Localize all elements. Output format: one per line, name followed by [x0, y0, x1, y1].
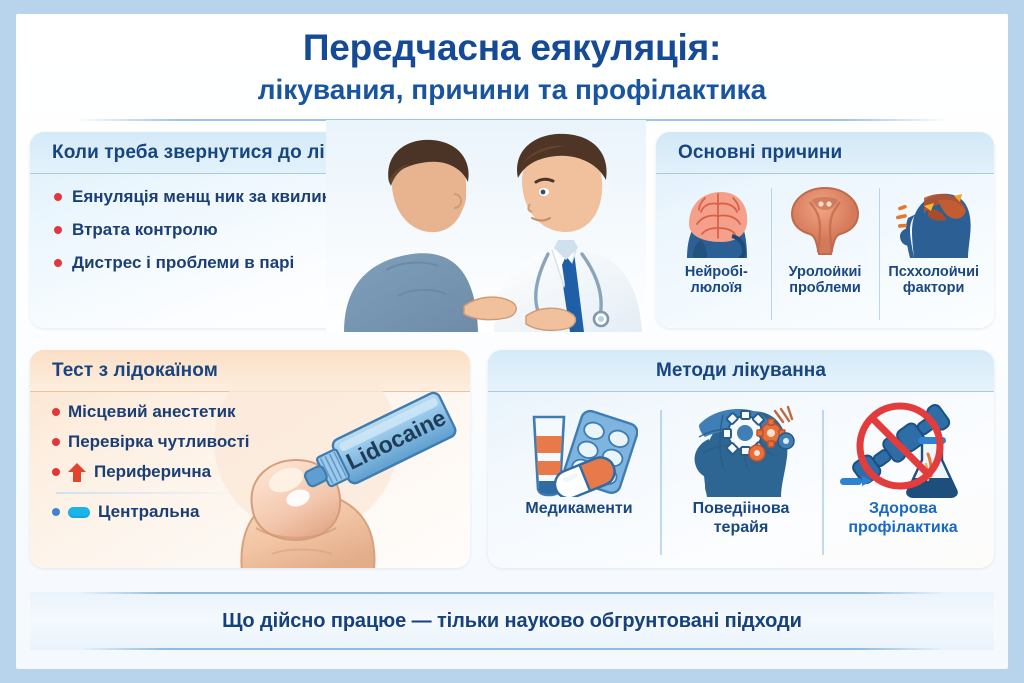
bullet-dot-icon [54, 259, 62, 267]
treatment-label: Поведііноватерайя [693, 500, 790, 538]
symptom-label: Втрата контролю [72, 220, 218, 240]
panel-header-causes: Основні причини [656, 132, 994, 174]
treatment-item-behavioral: Поведііноватерайя [660, 402, 822, 567]
top-row: Коли треба звернутися до лікаря? Еянуляц… [16, 132, 1008, 338]
panel-header-treatment: Методи лікуванна [488, 350, 994, 392]
doctor-consultation-icon [326, 120, 646, 332]
panel-title-lidocaine: Тест з лідокаїном [52, 360, 218, 382]
stress-head-icon [894, 182, 974, 260]
cause-item-psychological: Псххолоӥчиіфактори [879, 182, 988, 328]
bullet-dot-icon [52, 468, 60, 476]
panel-title-causes: Основні причини [678, 142, 842, 164]
treatment-label: Здоровапрофілактика [848, 500, 957, 538]
cause-grid: Нейробі-люлоїя [656, 174, 994, 328]
pills-glass-icon [520, 402, 638, 498]
bullet-dot-icon [52, 438, 60, 446]
treatment-label: Медикаменти [525, 500, 632, 519]
treatment-item-prevention: Здоровапрофілактика [822, 402, 984, 567]
cause-label: Нейробі-люлоїя [685, 264, 748, 296]
poster-frame: Передчасна еякуляція: лікувания, причини… [0, 0, 1024, 683]
bullet-dot-icon [54, 193, 62, 201]
bottom-row: Тест з лідокаїном [16, 350, 1008, 578]
symptom-label: Еянуляція менщ ник за квилину [72, 187, 341, 207]
lidocaine-label: Місцевий анестетик [68, 402, 236, 422]
footer-banner: Що дійсно працюе — тільки науково обгрун… [30, 592, 994, 650]
doctor-patient-illustration [326, 120, 646, 332]
gears-head-icon [685, 402, 797, 498]
arrow-up-red-icon [68, 463, 86, 482]
list-item-central: Центральна [52, 502, 470, 522]
lidocaine-divider [56, 492, 246, 494]
cause-item-urological: Уролоӥкиіпроблеми [771, 182, 880, 328]
lidocaine-label: Перевірка чутливості [68, 432, 250, 452]
bullet-dot-icon [52, 408, 60, 416]
lidocaine-label: Периферична [94, 462, 211, 482]
cause-label: Уролоӥкиіпроблеми [789, 264, 862, 296]
treatment-grid: Медикаменти [488, 392, 994, 567]
title-block: Передчасна еякуляція: лікувания, причини… [16, 14, 1008, 127]
panel-lidocaine-test: Тест з лідокаїном [30, 350, 470, 568]
treatment-item-medication: Медикаменти [498, 402, 660, 567]
list-item-peripheral: Периферична [52, 462, 470, 482]
cause-item-neurobiology: Нейробі-люлоїя [662, 182, 771, 328]
list-item: Перевірка чутливості [52, 432, 470, 452]
panel-treatment-methods: Методи лікуванна [488, 350, 994, 568]
poster-subtitle: лікувания, причини та профілактика [36, 73, 988, 107]
poster-title: Передчасна еякуляція: [36, 28, 988, 67]
symptom-label: Дистрес і проблеми в парі [72, 253, 294, 273]
lidocaine-list: Місцевий анестетик Перевірка чутливості … [30, 392, 470, 522]
list-item: Місцевий анестетик [52, 402, 470, 422]
pill-blue-icon [68, 507, 90, 518]
cause-label: Псххолоӥчиіфактори [888, 264, 979, 296]
no-alcohol-icon [840, 402, 966, 498]
panel-title-treatment: Методи лікуванна [656, 360, 826, 382]
brain-head-icon [677, 182, 755, 260]
footer-text: Що дійсно працюе — тільки науково обгрун… [222, 610, 802, 633]
lidocaine-label: Центральна [98, 502, 200, 522]
poster-sheet: Передчасна еякуляція: лікувания, причини… [16, 14, 1008, 669]
panel-main-causes: Основні причини [656, 132, 994, 328]
bullet-dot-icon [52, 508, 60, 516]
bullet-dot-icon [54, 226, 62, 234]
prostate-icon [788, 182, 862, 260]
